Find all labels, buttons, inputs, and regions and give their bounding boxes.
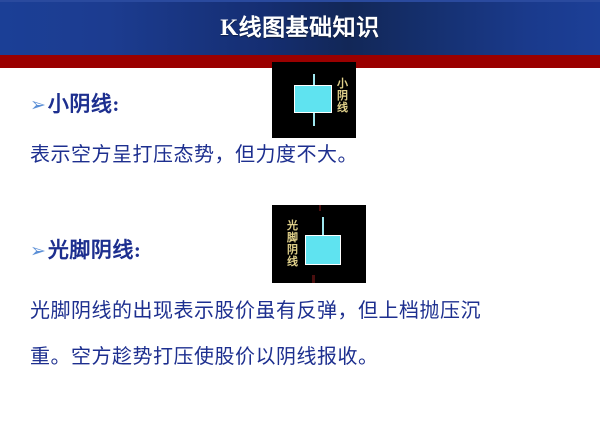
candlestick-figure-bald-yin: 光脚阴线 [272, 205, 366, 283]
figure-tick-mark [319, 205, 321, 211]
paragraph-bald-yin-line-1: 光脚阴线的出现表示股价虽有反弹，但上档抛压沉 [30, 294, 481, 323]
header-top-rule [0, 0, 600, 2]
paragraph-bald-yin-line-2: 重。空方趁势打压使股价以阴线报收。 [30, 340, 379, 369]
paragraph-small-yin-line-1: 表示空方呈打压态势，但力度不大。 [30, 138, 358, 167]
bullet-heading-bald-yin: 光脚阴线: [48, 234, 142, 264]
arrow-bullet-icon: ➢ [30, 96, 46, 115]
candle-body [305, 235, 341, 265]
bullet-heading-small-yin: 小阴线: [48, 88, 120, 118]
figure-label-small-yin: 小阴线 [336, 78, 349, 114]
arrow-bullet-icon: ➢ [30, 242, 46, 261]
candle-body [294, 85, 332, 113]
slide-header-band: K线图基础知识 [0, 0, 600, 55]
bullet-item-small-yin: ➢ 小阴线: [30, 88, 120, 118]
candlestick-figure-small-yin: 小阴线 [272, 62, 356, 138]
slide: K线图基础知识 ➢ 小阴线: 表示空方呈打压态势，但力度不大。 小阴线 ➢ 光脚… [0, 0, 600, 428]
figure-label-bald-yin: 光脚阴线 [286, 220, 299, 268]
bullet-item-bald-yin: ➢ 光脚阴线: [30, 234, 141, 264]
slide-title: K线图基础知识 [0, 8, 600, 42]
figure-tick-mark [312, 275, 315, 283]
